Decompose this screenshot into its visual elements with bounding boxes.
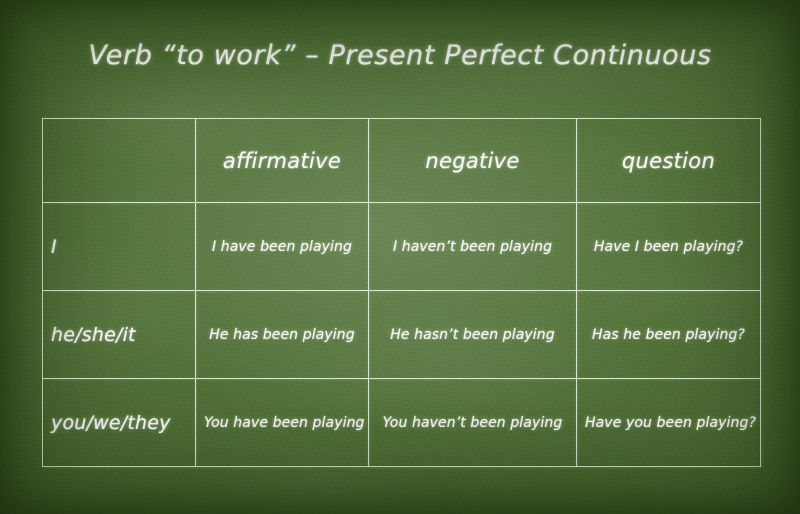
cell-hesheit-affirmative: He has been playing xyxy=(196,291,369,379)
cell-youwethey-affirmative: You have been playing xyxy=(196,379,369,467)
cell-i-negative: I haven’t been playing xyxy=(369,203,577,291)
cell-hesheit-question: Has he been playing? xyxy=(577,291,761,379)
cell-i-affirmative: I have been playing xyxy=(196,203,369,291)
page-title: Verb “to work” – Present Perfect Continu… xyxy=(0,40,800,71)
row-label-youwethey: you/we/they xyxy=(43,379,196,467)
row-label-hesheit: he/she/it xyxy=(43,291,196,379)
column-header-affirmative: affirmative xyxy=(196,119,369,203)
table-row: I I have been playing I haven’t been pla… xyxy=(43,203,761,291)
cell-i-question: Have I been playing? xyxy=(577,203,761,291)
conjugation-table: affirmative negative question I I have b… xyxy=(42,118,761,467)
row-label-i: I xyxy=(43,203,196,291)
cell-youwethey-question: Have you been playing? xyxy=(577,379,761,467)
column-header-question: question xyxy=(577,119,761,203)
chalkboard: Verb “to work” – Present Perfect Continu… xyxy=(0,0,800,514)
cell-hesheit-negative: He hasn’t been playing xyxy=(369,291,577,379)
table-row: he/she/it He has been playing He hasn’t … xyxy=(43,291,761,379)
cell-youwethey-negative: You haven’t been playing xyxy=(369,379,577,467)
table-row: you/we/they You have been playing You ha… xyxy=(43,379,761,467)
table-corner-cell xyxy=(43,119,196,203)
column-header-negative: negative xyxy=(369,119,577,203)
table-header-row: affirmative negative question xyxy=(43,119,761,203)
